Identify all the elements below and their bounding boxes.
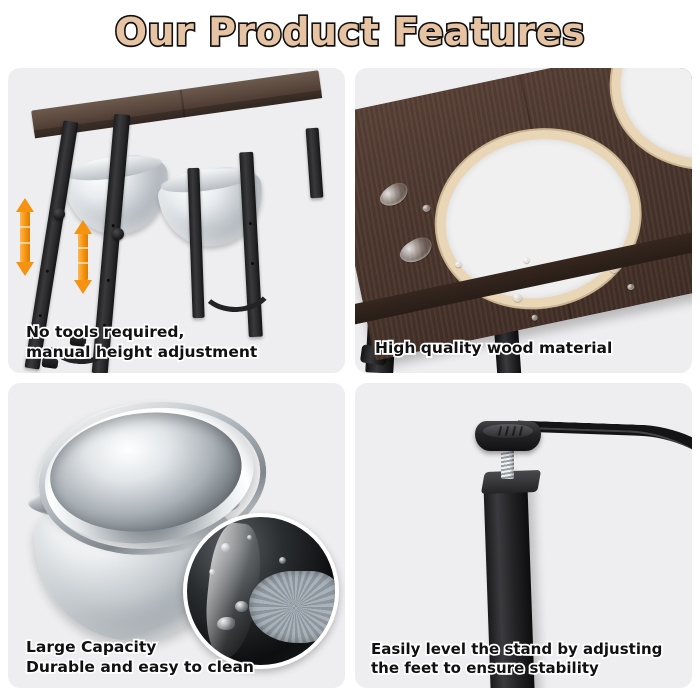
leveling-knob[interactable] [475, 421, 541, 451]
wood-tabletop [355, 68, 692, 361]
threaded-screw [501, 447, 514, 479]
water-droplet [512, 293, 522, 303]
panel-leveling-feet: Easily level the stand by adjusting the … [355, 383, 692, 688]
arrow-head-down [74, 280, 92, 294]
water-droplet [217, 617, 235, 630]
panel-wood-material: High quality wood material [355, 68, 692, 373]
panel-caption: Large Capacity Durable and easy to clean [26, 638, 254, 678]
infographic-page: Our Product Features [0, 0, 700, 700]
knob-knurled-top [483, 424, 533, 438]
microfiber-cloth [249, 571, 339, 643]
arrow-head-down [16, 262, 34, 276]
arrow-head-up [16, 198, 34, 212]
height-knob-right[interactable] [112, 228, 124, 240]
water-droplet [247, 535, 252, 540]
water-droplet [627, 283, 635, 290]
height-arrow-right [74, 220, 92, 294]
arrow-shaft [20, 212, 30, 262]
arrow-shaft [78, 234, 88, 280]
page-title-bar: Our Product Features [0, 4, 700, 60]
wood-top-illustration [355, 68, 692, 373]
feature-panel-grid: No tools required, manual height adjustm… [8, 68, 692, 692]
water-droplet [279, 557, 286, 564]
water-droplet [531, 314, 538, 321]
crossbar-highlight [521, 427, 692, 582]
arrow-head-up [74, 220, 92, 234]
panel-height-adjustment: No tools required, manual height adjustm… [8, 68, 345, 373]
water-droplet [209, 569, 215, 575]
panel-bowl-capacity: Large Capacity Durable and easy to clean [8, 383, 345, 688]
water-droplet [235, 601, 248, 612]
panel-caption: No tools required, manual height adjustm… [26, 323, 257, 363]
page-title: Our Product Features [115, 10, 585, 54]
height-arrow-left [16, 198, 34, 276]
bowl-cutout-back [606, 68, 692, 176]
water-droplet [376, 179, 411, 210]
water-droplet [221, 543, 230, 552]
panel-caption: Easily level the stand by adjusting the … [371, 640, 662, 678]
leg-brace-back [194, 244, 277, 314]
panel-caption: High quality wood material [375, 339, 612, 359]
water-droplet [422, 204, 431, 213]
height-knob-left[interactable] [53, 208, 65, 220]
water-droplet [396, 233, 436, 267]
